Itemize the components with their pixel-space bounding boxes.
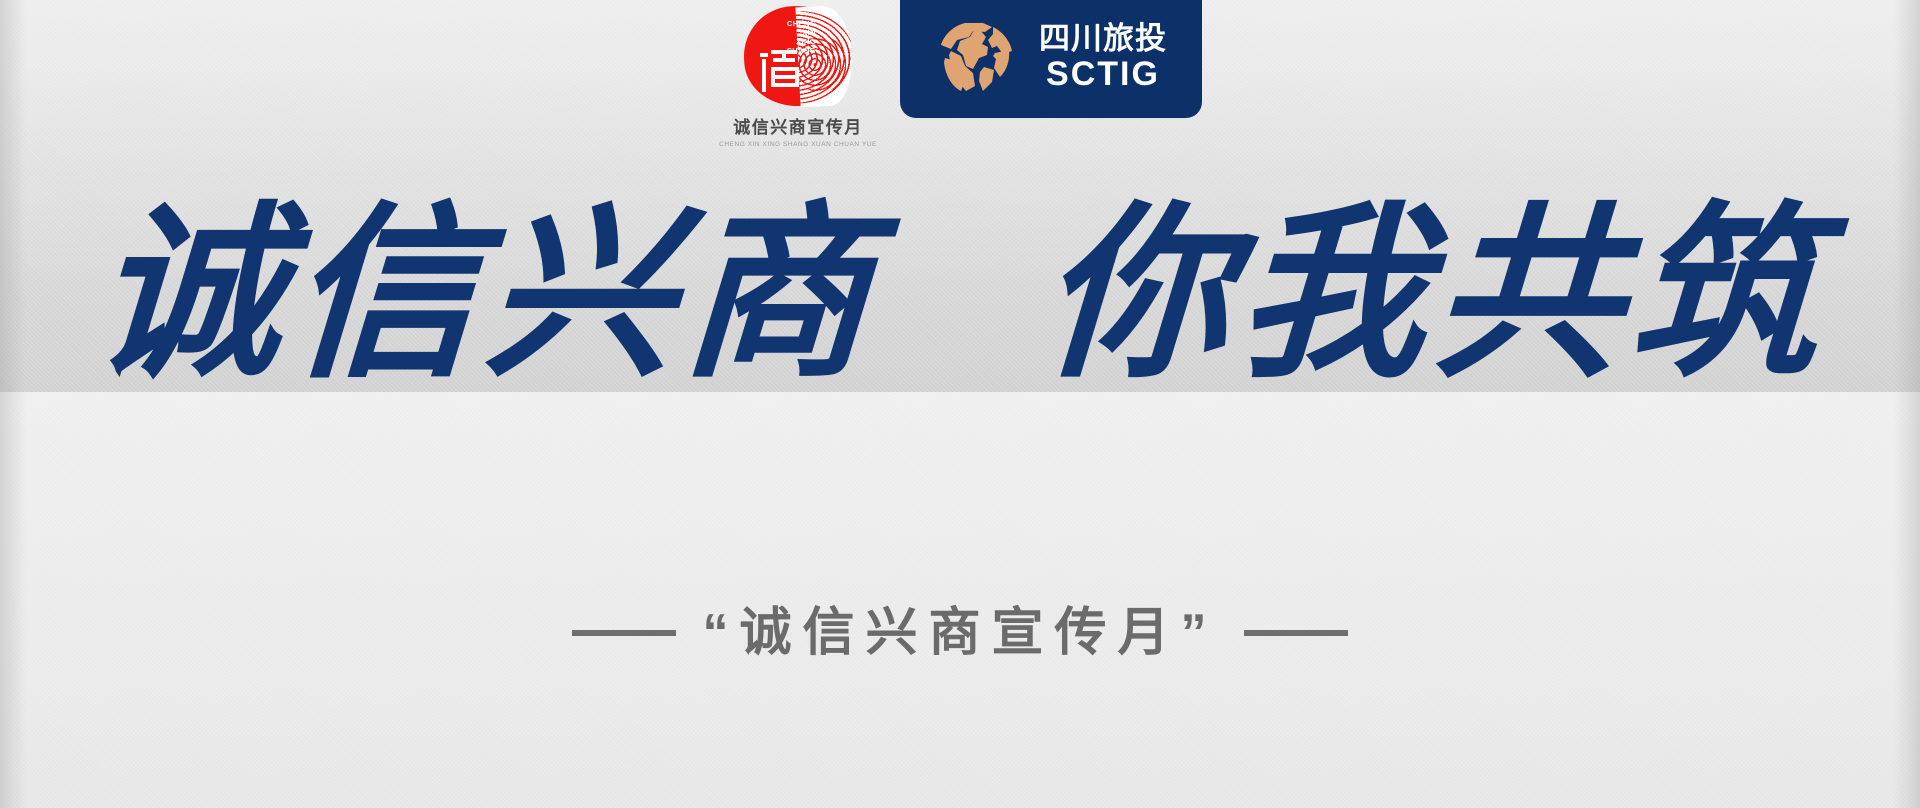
sctig-wordmark: 四川旅投 SCTIG	[1039, 23, 1167, 91]
logo-row: CHENG XIN XING SHANG	[0, 0, 1920, 165]
headline: 诚信兴商 你我共筑	[0, 196, 1920, 396]
seal-caption-en: CHENG XIN XING SHANG XUAN CHUAN YUE	[719, 141, 877, 148]
campaign-banner: CHENG XIN XING SHANG	[0, 0, 1920, 808]
sctig-name-en: SCTIG	[1046, 57, 1160, 91]
subtitle-rule-right	[1244, 630, 1348, 636]
subtitle-text: “诚信兴商宣传月”	[702, 602, 1217, 664]
globe-icon	[935, 14, 1021, 100]
subtitle-rule-left	[572, 630, 676, 636]
seal-xin-glyph-icon	[760, 50, 808, 94]
seal-pinyin-line-2: XIN	[760, 28, 816, 37]
subtitle-row: “诚信兴商宣传月”	[0, 602, 1920, 664]
seal-caption-cn: 诚信兴商宣传月	[733, 113, 863, 138]
headline-part-1: 诚信兴商	[89, 191, 884, 400]
headline-part-2: 你我共筑	[1037, 191, 1832, 400]
chengxin-seal-logo: CHENG XIN XING SHANG	[718, 0, 878, 148]
red-seal-fingerprint-icon: CHENG XIN XING SHANG	[744, 6, 852, 106]
seal-pinyin-line-1: CHENG	[760, 19, 816, 28]
seal-pinyin-line-3: XING	[760, 37, 816, 46]
background-lower-band	[0, 392, 1920, 808]
sctig-name-cn: 四川旅投	[1039, 23, 1167, 55]
sctig-logo-panel: 四川旅投 SCTIG	[900, 0, 1202, 118]
